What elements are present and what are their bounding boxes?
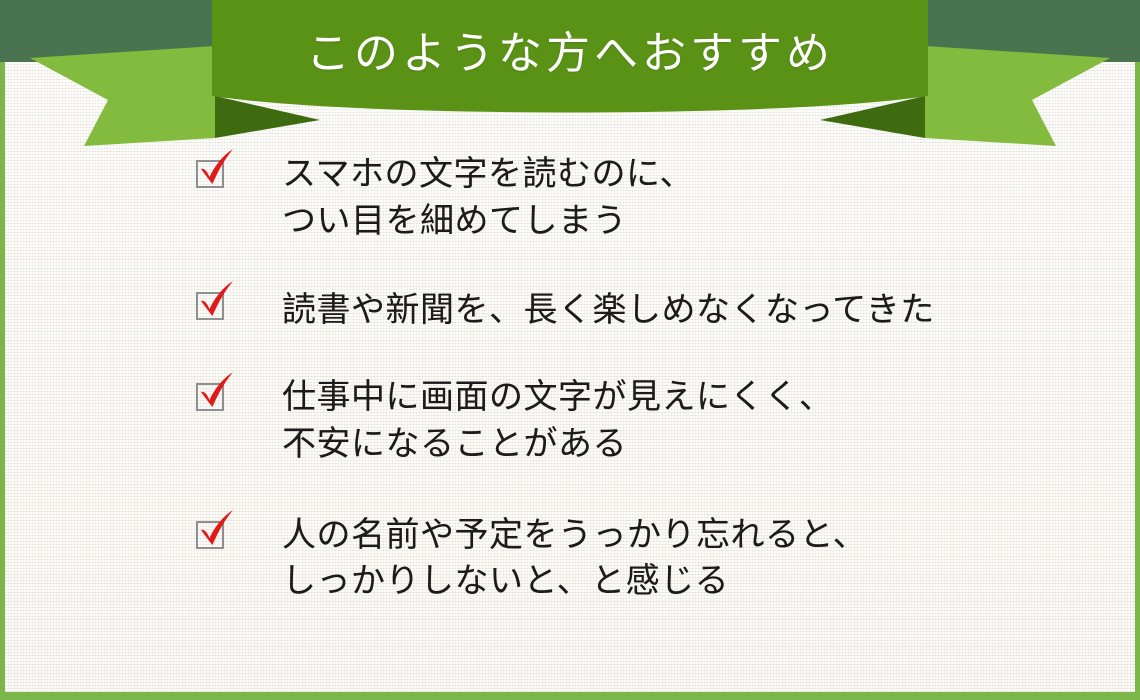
list-item-label: 読書や新聞を、長く楽しめなくなってきた (282, 288, 935, 335)
checked-checkbox-icon (196, 383, 226, 413)
list-item: 読書や新聞を、長く楽しめなくなってきた (0, 288, 1140, 335)
check-mark-icon (195, 278, 241, 324)
check-mark-icon (195, 146, 241, 192)
promo-banner-slide: スマホの文字を読むのに、 つい目を細めてしまう 読書や新聞を、長く楽しめなくなっ… (0, 0, 1140, 700)
check-mark-icon (195, 369, 241, 415)
checked-checkbox-icon (196, 160, 226, 190)
checklist: スマホの文字を読むのに、 つい目を細めてしまう 読書や新聞を、長く楽しめなくなっ… (0, 62, 1140, 700)
list-item: 人の名前や予定をうっかり忘れると、 しっかりしないと、と感じる (0, 513, 1140, 607)
header-band (0, 0, 1140, 62)
check-mark-icon (195, 507, 241, 553)
list-item-label: 人の名前や予定をうっかり忘れると、 しっかりしないと、と感じる (282, 513, 867, 607)
list-item: スマホの文字を読むのに、 つい目を細めてしまう (0, 152, 1140, 246)
list-item-label: スマホの文字を読むのに、 つい目を細めてしまう (282, 152, 694, 246)
checked-checkbox-icon (196, 521, 226, 551)
checked-checkbox-icon (196, 292, 226, 322)
list-item: 仕事中に画面の文字が見えにくく、 不安になることがある (0, 375, 1140, 469)
list-item-label: 仕事中に画面の文字が見えにくく、 不安になることがある (282, 375, 833, 469)
